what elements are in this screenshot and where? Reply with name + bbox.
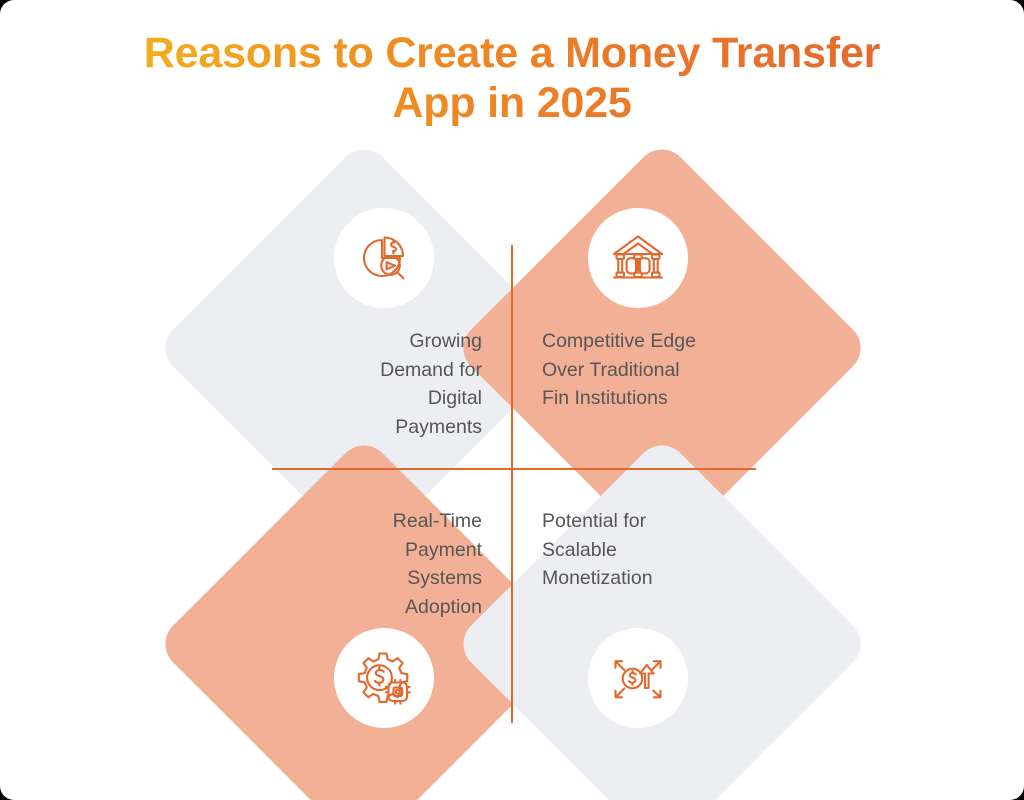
page-title: Reasons to Create a Money Transfer App i…: [112, 28, 912, 128]
pie-chart-dollar-magnifier-icon: [353, 227, 415, 289]
gear-dollar-chip-icon: [353, 647, 415, 709]
bank-building-icon: [607, 227, 669, 289]
divider-horizontal: [272, 468, 756, 470]
icon-badge-top-left: [334, 208, 434, 308]
infographic-card: Reasons to Create a Money Transfer App i…: [0, 0, 1024, 800]
divider-vertical: [511, 245, 513, 723]
icon-badge-bottom-right: [588, 628, 688, 728]
quadrant-shape-scalable-monetization: [453, 435, 872, 800]
icon-badge-bottom-left: [334, 628, 434, 728]
quadrant-label-competitive-edge: Competitive Edge Over Traditional Fin In…: [542, 327, 762, 413]
dollar-growth-arrows-icon: [607, 647, 669, 709]
quadrant-label-scalable-monetization: Potential for Scalable Monetization: [542, 507, 762, 593]
icon-badge-top-right: [588, 208, 688, 308]
quadrant-label-real-time-payments: Real-Time Payment Systems Adoption: [300, 507, 482, 621]
quadrant-label-growing-demand: Growing Demand for Digital Payments: [300, 327, 482, 441]
